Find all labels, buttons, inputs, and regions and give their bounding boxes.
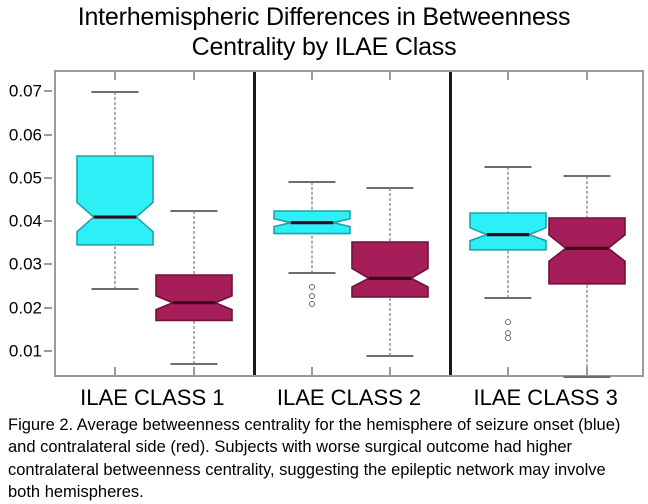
x-tick-mark [311, 367, 313, 376]
x-tick-mark [586, 71, 588, 80]
x-tick-mark [586, 367, 588, 376]
plot-area [54, 70, 644, 377]
whisker-cap-upper [91, 91, 138, 93]
y-tick-mark [44, 350, 52, 352]
whisker-cap-upper [485, 166, 532, 168]
x-tick-mark [193, 71, 195, 80]
y-tick-label: 0.02 [9, 299, 42, 316]
outlier-point [309, 301, 315, 307]
y-tick-label: 0.04 [9, 213, 42, 230]
x-axis-category-label: ILAE CLASS 3 [474, 385, 618, 411]
y-tick-label: 0.07 [9, 83, 42, 100]
box-body [549, 218, 625, 284]
box-body [274, 211, 350, 234]
box-plot-contralateral [549, 72, 625, 375]
y-tick-mark [44, 307, 52, 309]
whisker-cap-lower [170, 363, 217, 365]
x-tick-mark [114, 71, 116, 80]
chart-title: Interhemispheric Differences in Betweenn… [0, 2, 648, 62]
outlier-point [505, 335, 511, 341]
whisker-cap-lower [563, 376, 610, 378]
y-tick-label: 0.03 [9, 256, 42, 273]
outlier-point [309, 284, 315, 290]
x-tick-mark [507, 367, 509, 376]
y-tick-label: 0.05 [9, 169, 42, 186]
y-tick-mark [44, 177, 52, 179]
y-tick-mark [44, 90, 52, 92]
chart-title-line-1: Interhemispheric Differences in Betweenn… [0, 2, 648, 32]
box-plot-ipsilateral [274, 72, 350, 375]
whisker-cap-lower [485, 297, 532, 299]
y-tick-label: 0.06 [9, 126, 42, 143]
box-plot-contralateral [352, 72, 428, 375]
y-tick-mark [44, 134, 52, 136]
box-body [470, 213, 546, 250]
y-tick-mark [44, 220, 52, 222]
box-plot-ipsilateral [470, 72, 546, 375]
whisker-cap-lower [288, 272, 335, 274]
box-body [77, 156, 153, 245]
chart-title-line-2: Centrality by ILAE Class [0, 32, 648, 62]
whisker-cap-lower [367, 355, 414, 357]
whisker-cap-upper [367, 187, 414, 189]
whisker-cap-upper [288, 181, 335, 183]
y-axis: 0.010.020.030.040.050.060.07 [0, 70, 52, 377]
y-tick-mark [44, 263, 52, 265]
outlier-point [505, 319, 511, 325]
box-body [156, 275, 232, 320]
y-tick-label: 0.01 [9, 343, 42, 360]
whisker-cap-upper [170, 210, 217, 212]
box-plot-ipsilateral [77, 72, 153, 375]
box-body [352, 242, 428, 297]
x-tick-mark [193, 367, 195, 376]
x-axis-category-label: ILAE CLASS 1 [80, 385, 224, 411]
x-tick-mark [389, 71, 391, 80]
outlier-point [309, 293, 315, 299]
x-tick-mark [389, 367, 391, 376]
figure-caption: Figure 2. Average betweenness centrality… [8, 414, 642, 503]
x-tick-mark [507, 71, 509, 80]
x-axis-labels: ILAE CLASS 1ILAE CLASS 2ILAE CLASS 3 [54, 385, 644, 413]
panel-divider [449, 72, 452, 375]
x-tick-mark [114, 367, 116, 376]
whisker-cap-lower [91, 288, 138, 290]
whisker-cap-upper [563, 175, 610, 177]
box-plot-contralateral [156, 72, 232, 375]
x-tick-mark [311, 71, 313, 80]
panel-divider [253, 72, 256, 375]
x-axis-category-label: ILAE CLASS 2 [277, 385, 421, 411]
